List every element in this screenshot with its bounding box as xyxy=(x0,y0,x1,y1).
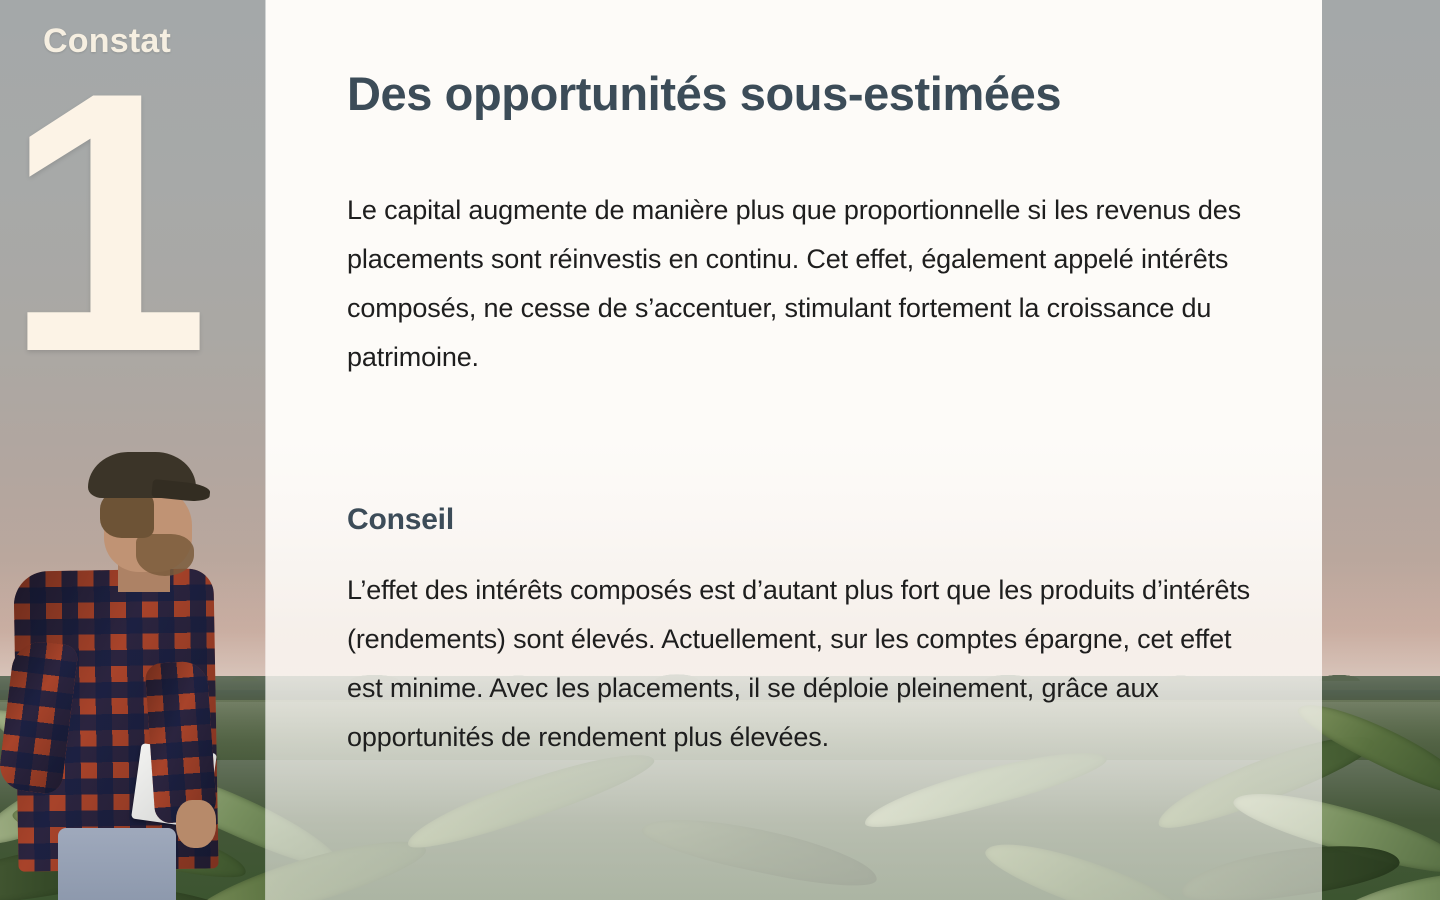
constat-sidebar: Constat 1 xyxy=(0,0,266,900)
body-text-block: Le capital augmente de manière plus que … xyxy=(347,186,1267,382)
body-paragraph: Le capital augmente de manière plus que … xyxy=(347,186,1267,382)
content-panel-inner: Des opportunités sous-estimées Le capita… xyxy=(266,0,1322,900)
content-panel: Des opportunités sous-estimées Le capita… xyxy=(266,0,1322,900)
constat-number: 1 xyxy=(0,38,214,408)
tip-text-block: L’effet des intérêts composés est d’auta… xyxy=(347,566,1267,762)
tip-heading: Conseil xyxy=(347,503,454,537)
slide-title: Des opportunités sous-estimées xyxy=(347,66,1061,121)
slide-root: Constat 1 Des opportunités sous-estimées… xyxy=(0,0,1440,900)
tip-paragraph: L’effet des intérêts composés est d’auta… xyxy=(347,566,1267,762)
